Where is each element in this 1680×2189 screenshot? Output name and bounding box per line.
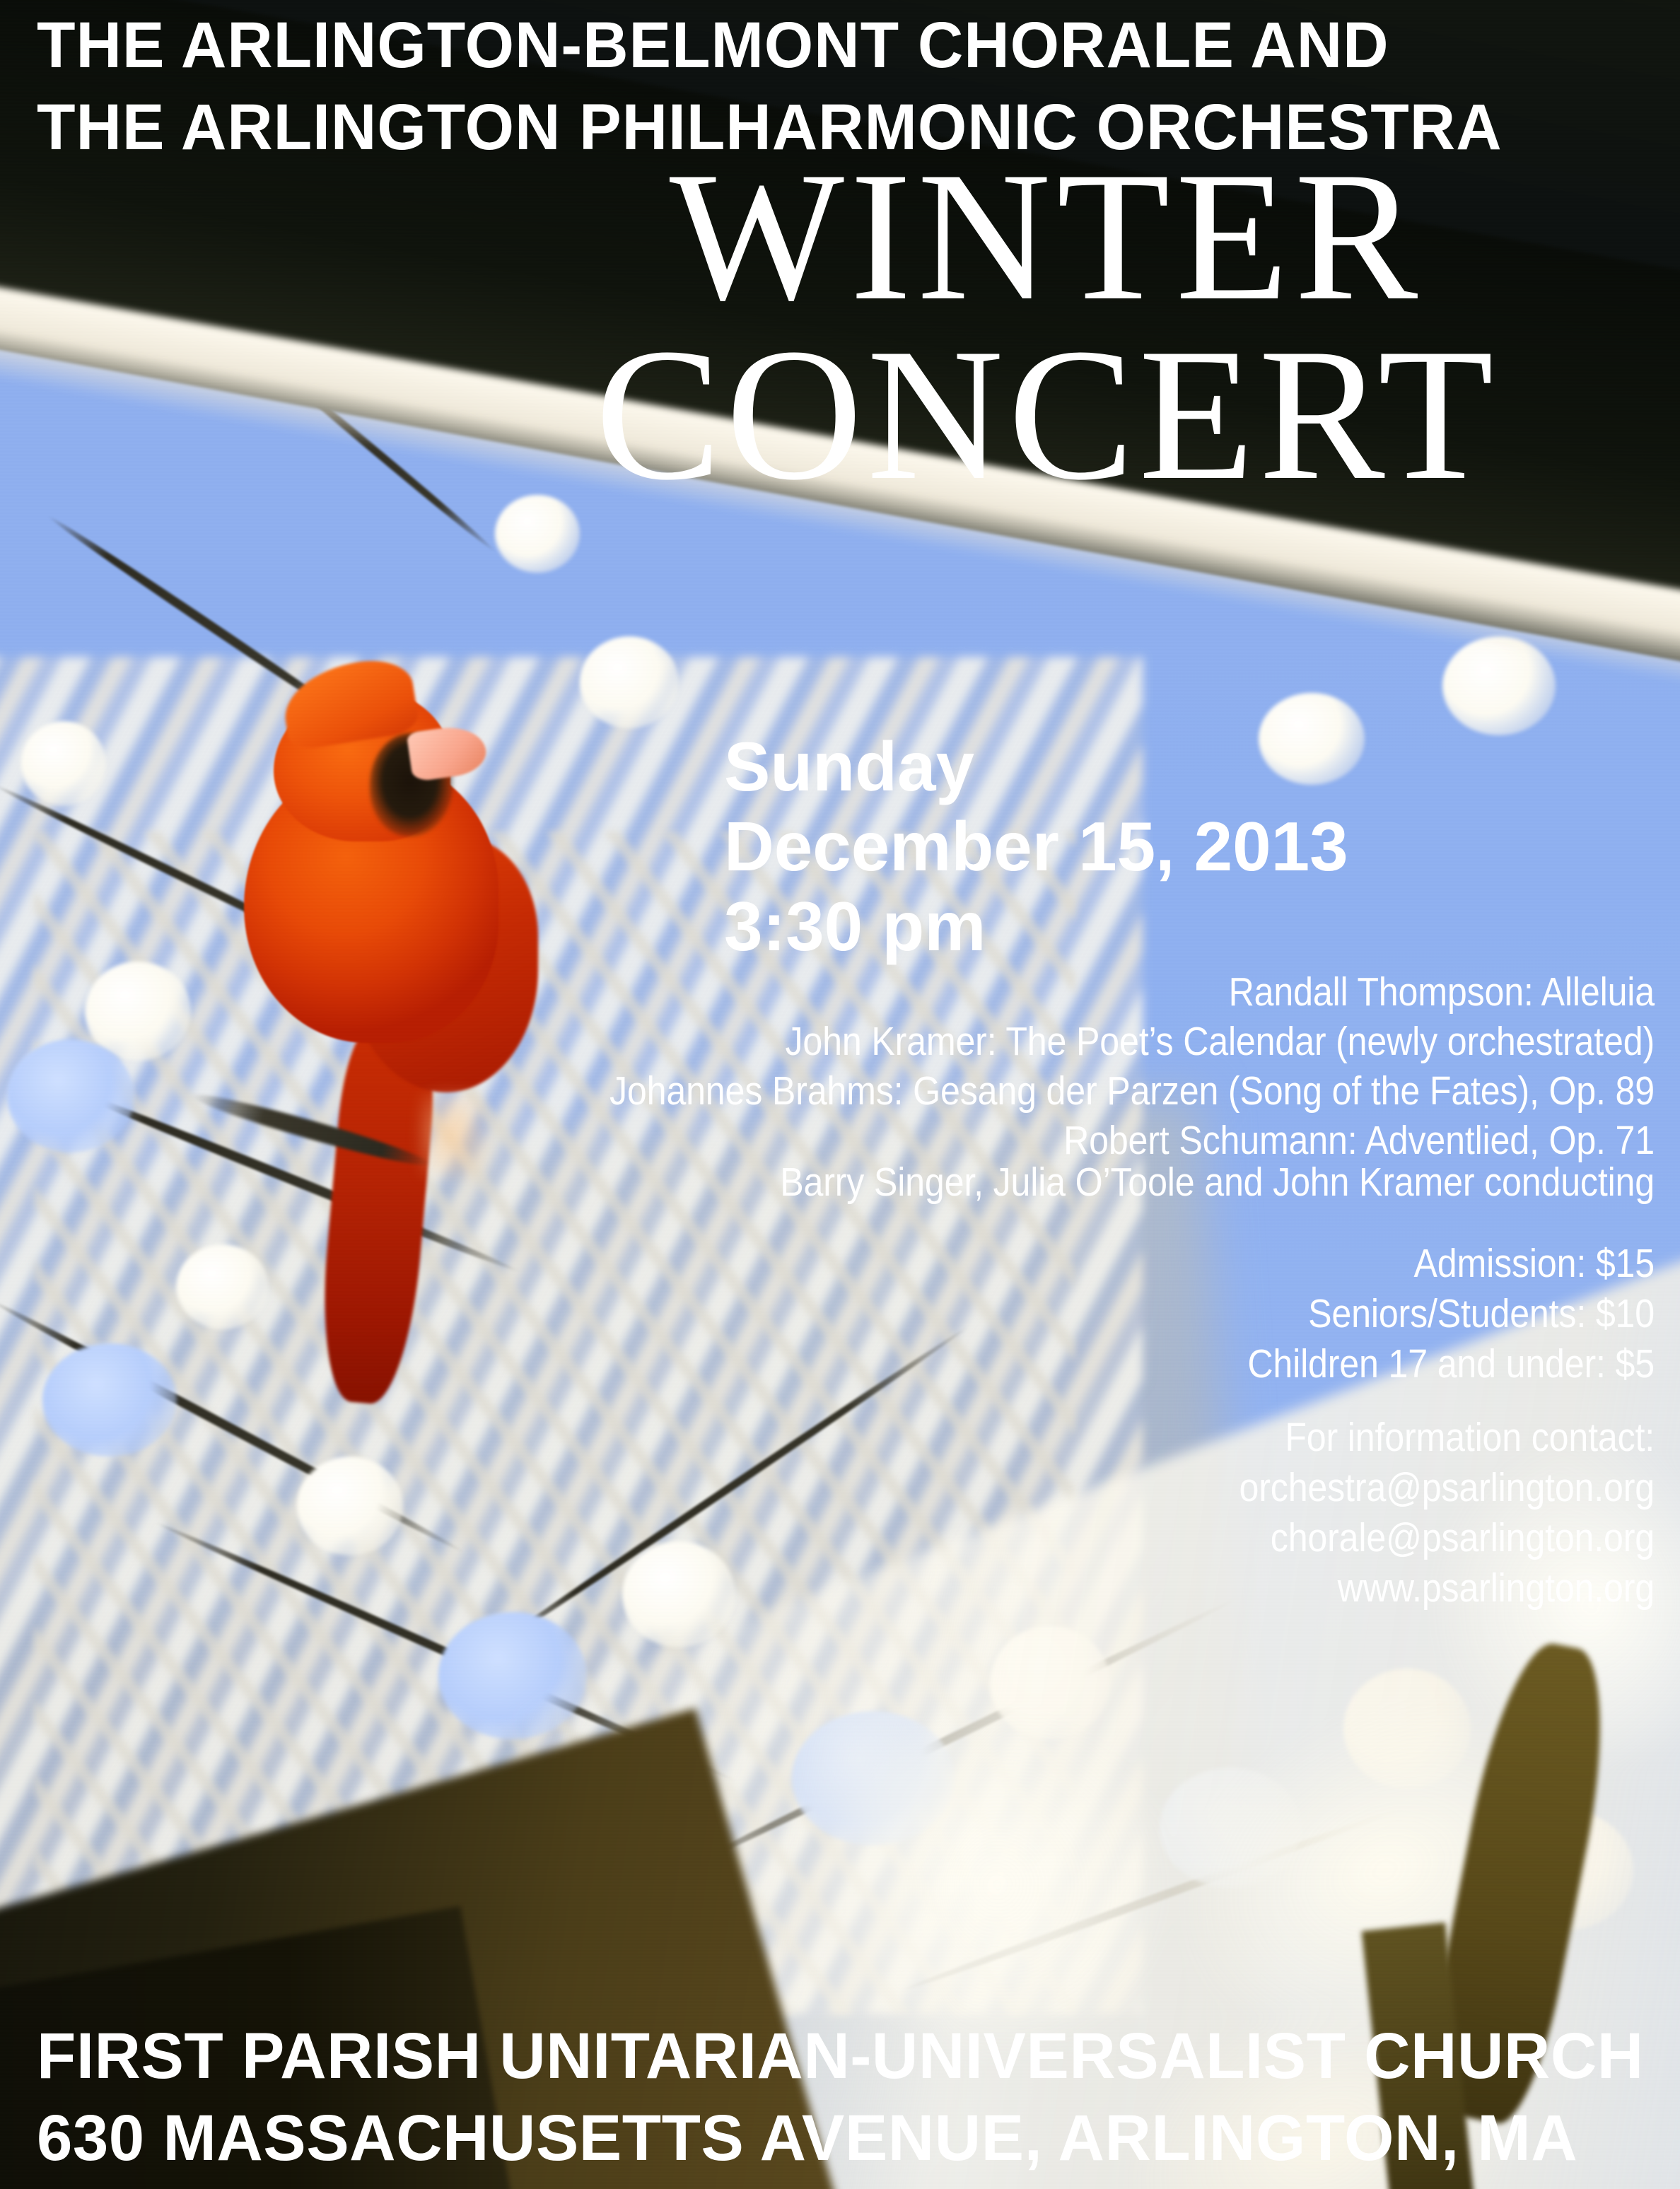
contact-email-chorale[interactable]: chorale@psarlington.org	[472, 1513, 1655, 1563]
winter-concert-poster: THE ARLINGTON-BELMONT CHORALE AND THE AR…	[0, 0, 1680, 2189]
ticket-pricing: Admission: $15 Seniors/Students: $10 Chi…	[472, 1239, 1655, 1389]
program-item: Johannes Brahms: Gesang der Parzen (Song…	[472, 1066, 1655, 1116]
contact-block: For information contact: orchestra@psarl…	[472, 1413, 1655, 1613]
contact-heading: For information contact:	[472, 1413, 1655, 1463]
concert-datetime: Sunday December 15, 2013 3:30 pm	[724, 727, 1348, 967]
price-seniors-students: Seniors/Students: $10	[472, 1289, 1655, 1339]
ensemble-line-1: THE ARLINGTON-BELMONT CHORALE AND	[37, 4, 1607, 86]
concert-date: December 15, 2013	[724, 807, 1348, 887]
poster-title: WINTER CONCERT	[445, 147, 1647, 503]
venue-address: FIRST PARISH UNITARIAN-UNIVERSALIST CHUR…	[37, 2015, 1639, 2179]
price-children: Children 17 and under: $5	[472, 1339, 1655, 1389]
concert-time: 3:30 pm	[724, 887, 1348, 967]
venue-street: 630 MASSACHUSETTS AVENUE, ARLINGTON, MA	[37, 2097, 1639, 2179]
title-line-winter: WINTER	[445, 147, 1647, 325]
program-item: John Kramer: The Poet’s Calendar (newly …	[472, 1017, 1655, 1066]
price-admission: Admission: $15	[472, 1239, 1655, 1289]
concert-day: Sunday	[724, 727, 1348, 807]
contact-email-orchestra[interactable]: orchestra@psarlington.org	[472, 1463, 1655, 1513]
poster-text-layer: THE ARLINGTON-BELMONT CHORALE AND THE AR…	[0, 0, 1680, 2189]
conductors-line: Barry Singer, Julia O’Toole and John Kra…	[472, 1157, 1655, 1207]
title-line-concert: CONCERT	[445, 325, 1647, 503]
program-item: Randall Thompson: Alleluia	[472, 967, 1655, 1017]
contact-website[interactable]: www.psarlington.org	[472, 1563, 1655, 1613]
program-list: Randall Thompson: Alleluia John Kramer: …	[472, 967, 1655, 1165]
venue-name: FIRST PARISH UNITARIAN-UNIVERSALIST CHUR…	[37, 2015, 1639, 2097]
